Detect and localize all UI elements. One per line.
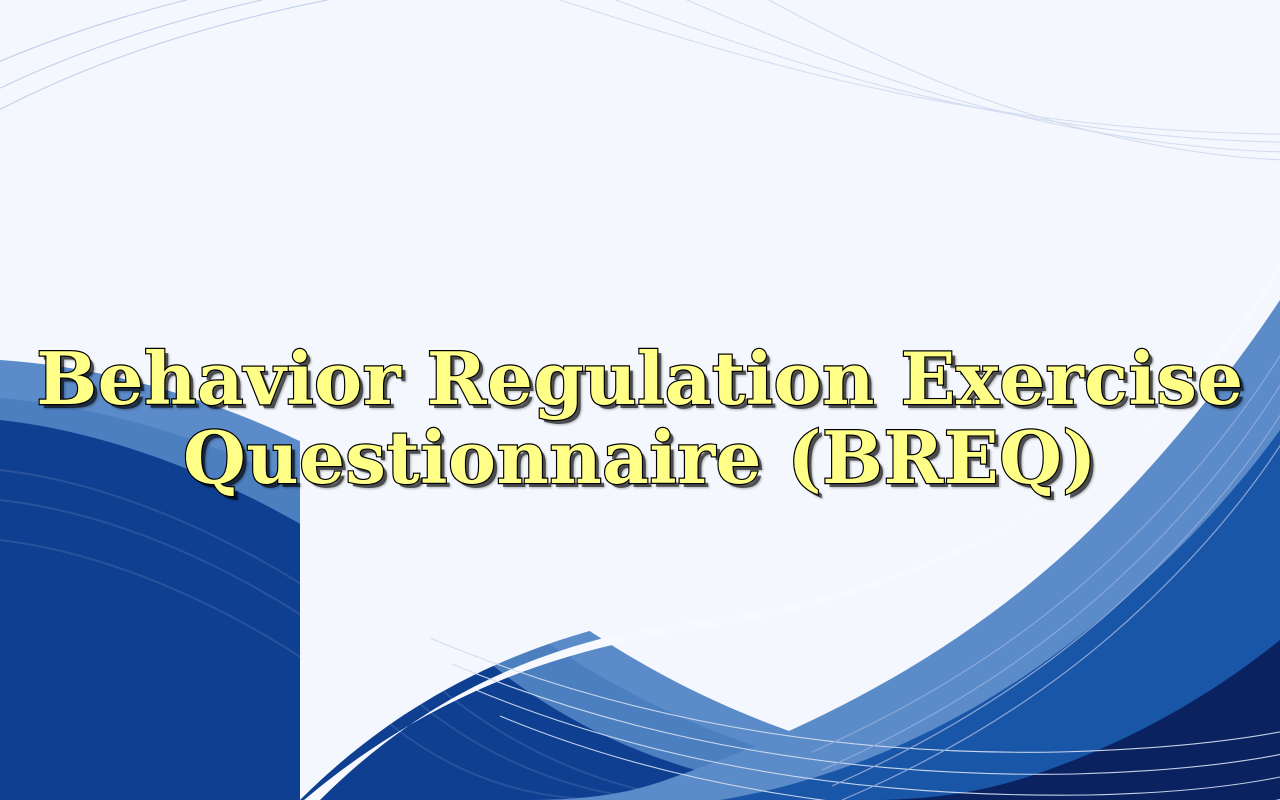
title-slide: Behavior Regulation Exercise Questionnai… bbox=[0, 0, 1280, 800]
decorative-background bbox=[0, 0, 1280, 800]
